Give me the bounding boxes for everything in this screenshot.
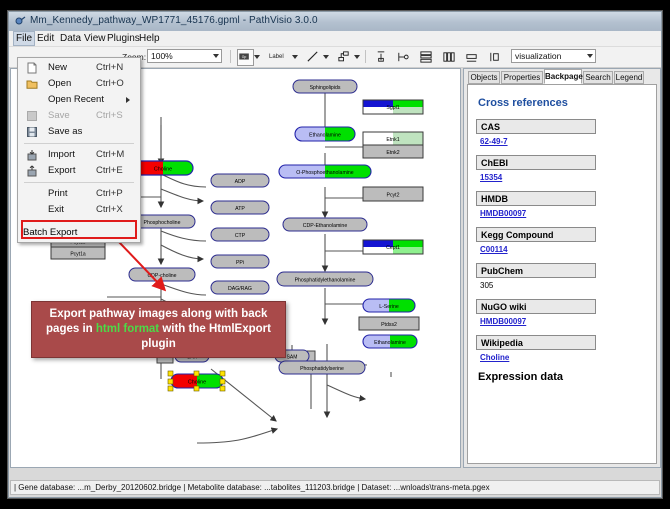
db-value-pubchem: 305 (480, 281, 648, 290)
title-bar: Mm_Kennedy_pathway_WP1771_45176.gpml - P… (9, 12, 661, 32)
db-label-chebi: ChEBI (476, 155, 596, 170)
zoom-value: 100% (151, 51, 173, 61)
svg-text:ADP: ADP (235, 179, 246, 185)
db-label-nugo: NuGO wiki (476, 299, 596, 314)
annotation-part2: with the HtmlExport plugin (141, 323, 271, 350)
menu-help[interactable]: Help (136, 32, 163, 45)
menu-item-exit[interactable]: Exit Ctrl+X (18, 202, 140, 218)
chevron-down-icon-2 (587, 54, 593, 58)
svg-text:O-Phosphoethanolamine: O-Phosphoethanolamine (296, 170, 354, 176)
svg-text:Etnk1: Etnk1 (386, 137, 399, 143)
svg-text:Cept1: Cept1 (386, 245, 400, 251)
svg-text:Ethanolamine: Ethanolamine (374, 340, 406, 346)
menu-item-export[interactable]: Export Ctrl+E (18, 163, 140, 179)
svg-text:Choline: Choline (188, 380, 206, 386)
menu-item-save: Save Ctrl+S (18, 108, 140, 124)
menu-item-open-label: Open (48, 76, 71, 92)
tab-objects[interactable]: Objects (468, 71, 500, 84)
db-label-pubchem: PubChem (476, 263, 596, 278)
visualization-value: visualization (515, 51, 561, 61)
application-window: Mm_Kennedy_pathway_WP1771_45176.gpml - P… (8, 11, 662, 498)
svg-text:L-Serine: L-Serine (379, 304, 399, 310)
db-value-kegg[interactable]: C00114 (480, 245, 648, 254)
import-icon (26, 149, 38, 161)
menu-item-open[interactable]: Open Ctrl+O (18, 76, 140, 92)
svg-text:Phosphocholine: Phosphocholine (144, 220, 181, 226)
menu-item-save-as-label: Save as (48, 124, 82, 140)
menu-item-exit-label: Exit (48, 202, 64, 218)
menu-item-save-accel: Ctrl+S (96, 108, 123, 124)
chevron-down-icon (213, 54, 219, 58)
svg-text:ATP: ATP (235, 206, 245, 212)
svg-text:CTP: CTP (235, 233, 246, 239)
menu-item-import-accel: Ctrl+M (96, 147, 124, 163)
db-label-kegg: Kegg Compound (476, 227, 596, 242)
menu-item-open-recent-label: Open Recent (48, 92, 104, 108)
menu-bar[interactable]: File Edit Data View Plugins Help (9, 31, 661, 47)
align-left-button[interactable] (395, 49, 412, 66)
menu-item-batch-export-label: Batch Export (23, 227, 77, 238)
side-panel[interactable]: Objects Properties Backpage Search Legen… (463, 68, 661, 468)
svg-text:Phosphatidylethanolamine: Phosphatidylethanolamine (295, 278, 356, 284)
tab-legend[interactable]: Legend (614, 71, 644, 84)
menu-item-open-recent[interactable]: Open Recent (18, 92, 140, 108)
expression-data-heading: Expression data (478, 371, 648, 383)
svg-text:Gp: Gp (242, 55, 247, 59)
svg-text:Pcyt1a: Pcyt1a (70, 252, 86, 258)
annotation-callout: Export pathway images along with back pa… (31, 301, 286, 358)
window-title: Mm_Kennedy_pathway_WP1771_45176.gpml - P… (30, 15, 318, 26)
menu-item-save-as[interactable]: Save as (18, 124, 140, 140)
svg-text:Sgpl1: Sgpl1 (386, 105, 399, 111)
export-icon (26, 165, 38, 177)
zoom-combo[interactable]: 100% (147, 49, 222, 63)
screenshot-root: Mm_Kennedy_pathway_WP1771_45176.gpml - P… (0, 0, 670, 509)
menu-item-new-accel: Ctrl+N (96, 60, 123, 76)
backpage-content: Cross references CAS 62-49-7 ChEBI 15354… (468, 85, 656, 463)
svg-text:CDP-Ethanolamine: CDP-Ethanolamine (303, 223, 348, 229)
new-document-icon (26, 62, 38, 74)
tab-backpage[interactable]: Backpage (544, 69, 582, 84)
save-disk-icon (26, 110, 38, 122)
interaction-dropdown-icon[interactable] (354, 55, 360, 59)
menu-item-print[interactable]: Print Ctrl+P (18, 186, 140, 202)
line-button[interactable] (305, 49, 322, 66)
open-folder-icon (26, 78, 38, 90)
svg-text:Ethanolamine: Ethanolamine (309, 133, 341, 139)
side-panel-tabs[interactable]: Objects Properties Backpage Search Legen… (464, 69, 660, 84)
menu-item-import-label: Import (48, 147, 75, 163)
menu-item-save-label: Save (48, 108, 70, 124)
svg-text:Pcyt2: Pcyt2 (387, 193, 400, 199)
db-value-cas[interactable]: 62-49-7 (480, 137, 648, 146)
annotation-text: Export pathway images along with back pa… (32, 307, 285, 352)
tab-search[interactable]: Search (583, 71, 613, 84)
label-dropdown-icon[interactable] (292, 55, 298, 59)
align-top-button[interactable] (373, 49, 390, 66)
distribute-vertical-button[interactable] (418, 49, 435, 66)
cross-references-heading: Cross references (478, 97, 648, 109)
same-width-button[interactable] (464, 49, 481, 66)
save-as-disk-icon (26, 126, 38, 138)
svg-text:PPi: PPi (236, 260, 244, 266)
toolbar-separator (230, 50, 231, 63)
menu-item-export-label: Export (48, 163, 75, 179)
db-label-wikipedia: Wikipedia (476, 335, 596, 350)
menu-item-export-accel: Ctrl+E (96, 163, 123, 179)
db-value-nugo[interactable]: HMDB00097 (480, 317, 648, 326)
toolbar-separator-2 (365, 50, 366, 63)
label-button[interactable]: Label (267, 49, 293, 66)
svg-text:DAG/RAG: DAG/RAG (228, 286, 252, 292)
chevron-right-icon (126, 97, 130, 103)
tab-properties[interactable]: Properties (501, 71, 543, 84)
svg-text:Etnk2: Etnk2 (386, 150, 399, 156)
visualization-combo[interactable]: visualization (511, 49, 596, 63)
menu-separator-1 (24, 143, 134, 144)
svg-text:SAM: SAM (287, 355, 298, 361)
menu-separator-2 (24, 182, 134, 183)
menu-edit[interactable]: Edit (34, 32, 57, 45)
data-node-button[interactable]: Gp (237, 49, 254, 66)
interaction-button[interactable] (336, 49, 353, 66)
pathvisio-app-icon (15, 16, 26, 27)
same-height-button[interactable] (487, 49, 504, 66)
svg-text:Sphingolipids: Sphingolipids (310, 85, 341, 91)
menu-item-batch-export[interactable]: Batch Export (21, 220, 137, 239)
menu-item-exit-accel: Ctrl+X (96, 202, 123, 218)
db-value-chebi[interactable]: 15354 (480, 173, 648, 182)
annotation-highlight: html format (96, 323, 159, 335)
distribute-horizontal-button[interactable] (441, 49, 458, 66)
data-node-dropdown-icon[interactable] (254, 55, 260, 59)
svg-text:Ptdss2: Ptdss2 (381, 322, 397, 328)
svg-text:Phosphatidylserine: Phosphatidylserine (300, 366, 344, 372)
db-label-hmdb: HMDB (476, 191, 596, 206)
db-value-wikipedia[interactable]: Choline (480, 353, 648, 362)
line-dropdown-icon[interactable] (323, 55, 329, 59)
db-label-cas: CAS (476, 119, 596, 134)
menu-item-print-label: Print (48, 186, 68, 202)
menu-file[interactable]: File (13, 31, 35, 46)
menu-item-new-label: New (48, 60, 67, 76)
file-menu-dropdown[interactable]: New Ctrl+N Open Ctrl+O Open Recent Save … (17, 57, 141, 243)
status-bar: | Gene database: ...m_Derby_20120602.bri… (10, 480, 660, 495)
menu-item-open-accel: Ctrl+O (96, 76, 124, 92)
menu-item-new[interactable]: New Ctrl+N (18, 60, 140, 76)
label-button-text: Label (269, 54, 284, 60)
menu-item-print-accel: Ctrl+P (96, 186, 123, 202)
svg-text:Choline: Choline (154, 167, 172, 173)
svg-text:CDP-choline: CDP-choline (147, 273, 176, 279)
menu-item-import[interactable]: Import Ctrl+M (18, 147, 140, 163)
db-value-hmdb[interactable]: HMDB00097 (480, 209, 648, 218)
backpage-panel[interactable]: Cross references CAS 62-49-7 ChEBI 15354… (467, 84, 657, 464)
